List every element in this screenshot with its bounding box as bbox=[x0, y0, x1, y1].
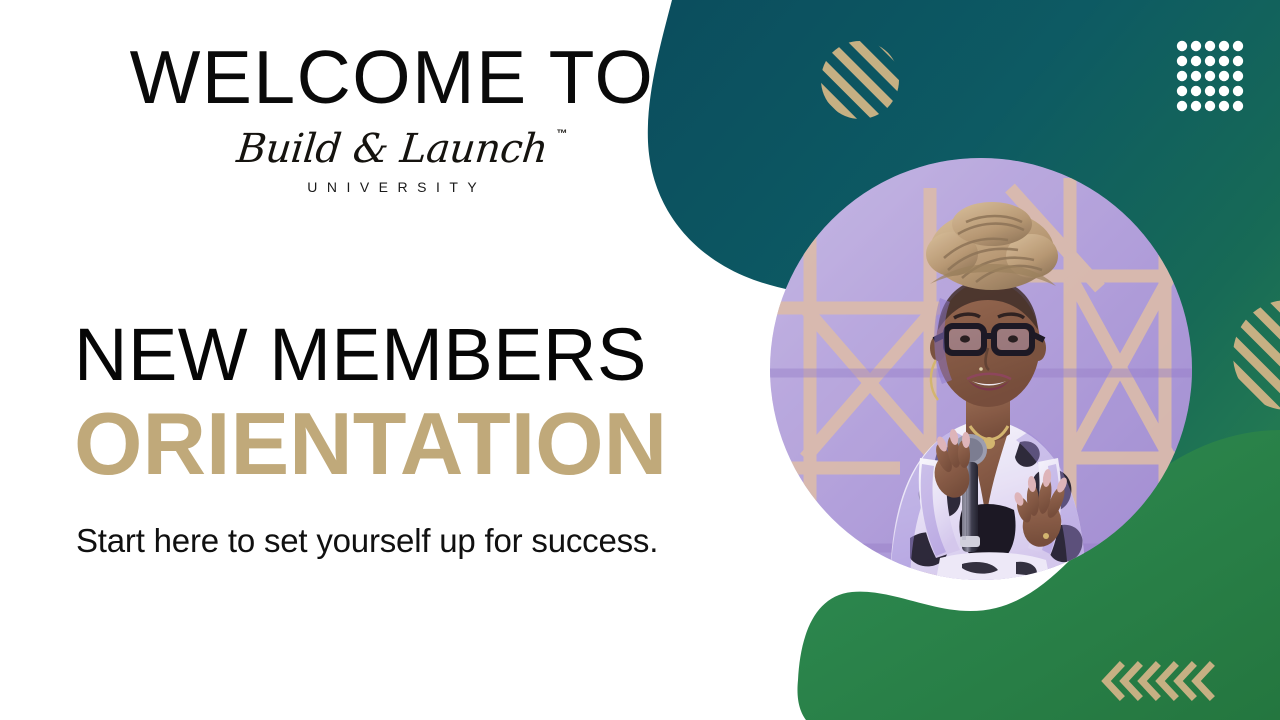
speaker-portrait bbox=[770, 158, 1192, 580]
brand-logo: Build & Launch ™ UNIVERSITY bbox=[92, 128, 692, 195]
logo-script-wordmark: Build & Launch ™ bbox=[235, 128, 550, 170]
subtitle-text: Start here to set yourself up for succes… bbox=[76, 522, 658, 560]
headline-block: NEW MEMBERS ORIENTATION bbox=[74, 318, 774, 488]
slide-root: WELCOME TO Build & Launch ™ UNIVERSITY N… bbox=[0, 0, 1280, 720]
logo-university-text: UNIVERSITY bbox=[92, 179, 692, 195]
text-column: WELCOME TO Build & Launch ™ UNIVERSITY N… bbox=[0, 0, 780, 720]
trademark-icon: ™ bbox=[557, 129, 568, 141]
headline-line-new-members: NEW MEMBERS bbox=[74, 318, 774, 392]
eyebrow-welcome-to: WELCOME TO bbox=[92, 40, 692, 115]
headline-line-orientation: ORIENTATION bbox=[74, 400, 774, 488]
logo-script-text: Build & Launch bbox=[234, 126, 549, 172]
